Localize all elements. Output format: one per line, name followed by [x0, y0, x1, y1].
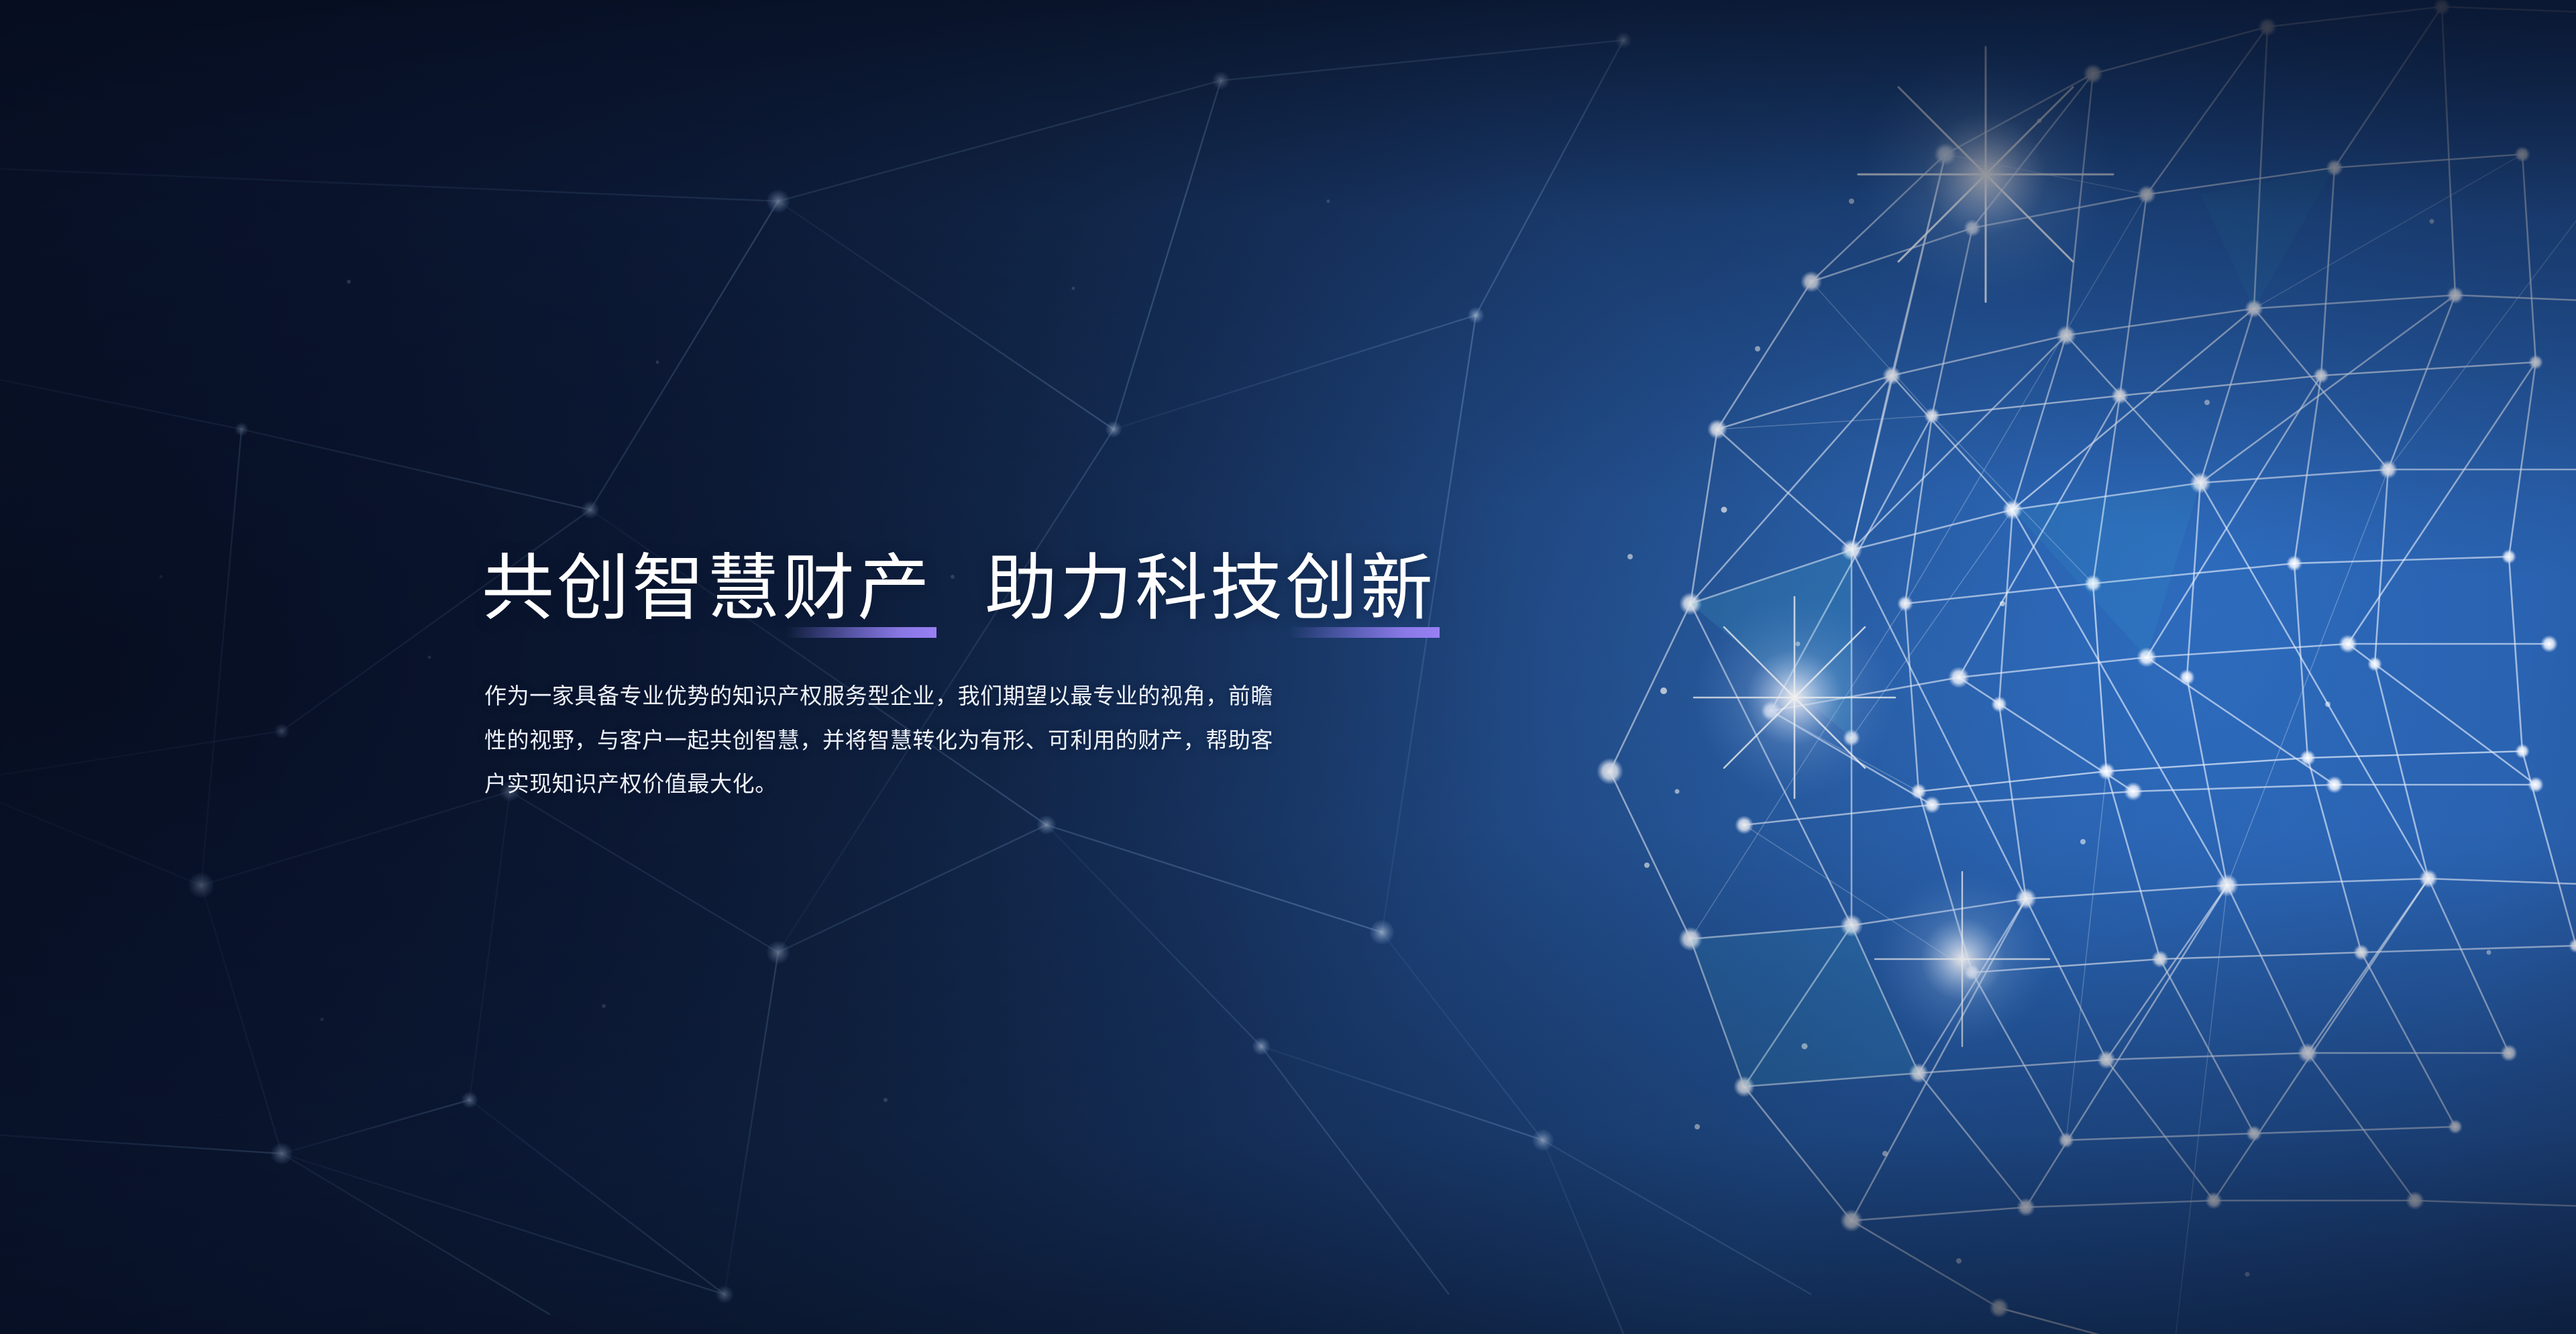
banner-root: 共创智慧 财产 助力科技 创新 作为一家具备专业优势的知识产权服务型企业，我们期…	[0, 0, 2576, 1334]
headline-segment-3: 助力科技	[985, 550, 1285, 638]
headline-segment-4-accent: 创新	[1285, 550, 1436, 638]
page-title: 共创智慧 财产 助力科技 创新	[482, 550, 1454, 638]
hero-copy: 共创智慧 财产 助力科技 创新 作为一家具备专业优势的知识产权服务型企业，我们期…	[482, 550, 1454, 805]
hero-description: 作为一家具备专业优势的知识产权服务型企业，我们期望以最专业的视角，前瞻性的视野，…	[484, 674, 1276, 805]
headline-segment-1: 共创智慧	[482, 550, 782, 638]
headline-segment-2-accent: 财产	[782, 550, 932, 638]
